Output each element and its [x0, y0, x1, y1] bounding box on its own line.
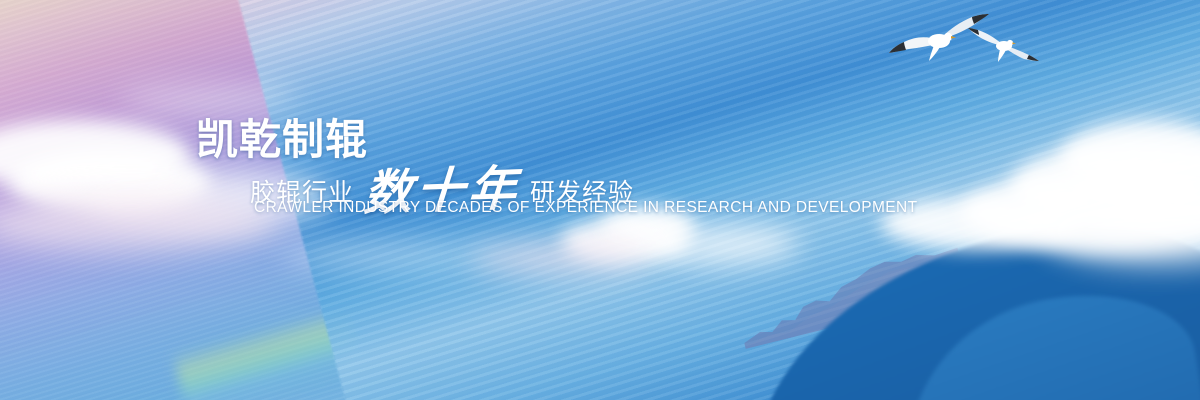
english-tagline: CRAWLER INDUSTRY DECADES OF EXPERIENCE I… — [254, 198, 917, 218]
page-title: 凯乾制辊 — [196, 118, 368, 162]
cirrus-cloud — [120, 86, 300, 112]
cloud-puff-center — [470, 240, 650, 274]
seagull-icon — [968, 22, 1040, 66]
hero-banner: 凯乾制辊 胶辊行业 数十年 研发经验 CRAWLER INDUSTRY DECA… — [0, 0, 1200, 400]
banner-text-block: 凯乾制辊 胶辊行业 数十年 研发经验 CRAWLER INDUSTRY DECA… — [196, 118, 836, 228]
cloud-wisp-center — [280, 240, 500, 270]
cloud-puff-center — [650, 224, 800, 264]
